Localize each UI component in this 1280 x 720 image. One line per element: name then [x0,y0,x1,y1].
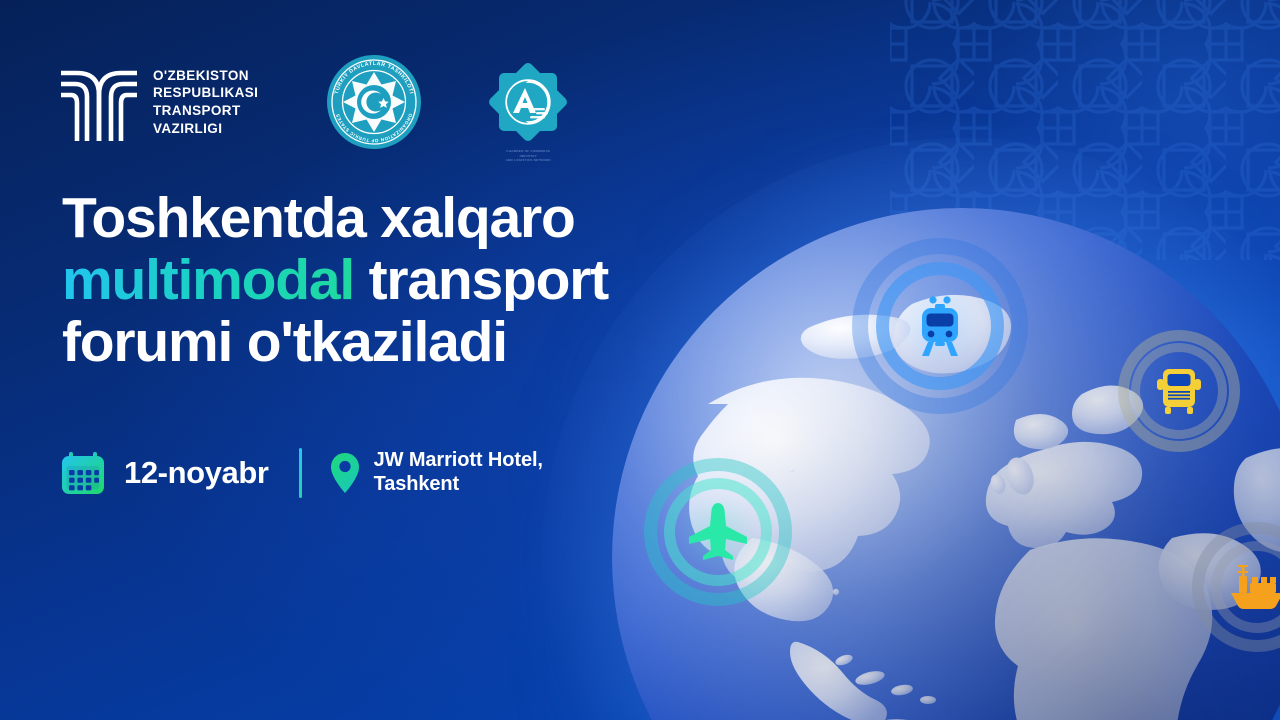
poster-canvas: O'ZBEKISTON RESPUBLIKASI TRANSPORT VAZIR… [0,0,1280,720]
event-date-label: 12-noyabr [124,455,269,491]
logo-ministry-of-transport: O'ZBEKISTON RESPUBLIKASI TRANSPORT VAZIR… [58,63,258,141]
airplane-icon [687,503,749,561]
headline-accent-word: multimodal [62,248,354,312]
headline-line-1: Toshkentda xalqaro [62,186,575,250]
train-icon [913,295,967,357]
eight-point-star-seal-icon: TURKIY DAVLATLAR TASHKILOTI ORGANIZATION… [326,54,422,150]
eight-point-star-ca-monogram-icon [478,52,578,152]
cargo-ship-icon [1228,565,1280,609]
logo-central-asia-emblem: CHAMBER OF COMMERCE INDUSTRY AND LOGISTI… [478,52,578,152]
event-location: JW Marriott Hotel, Tashkent [330,449,543,496]
headline-line-3: forumi o'tkaziladi [62,310,507,374]
headline-line-2-rest: transport [354,248,608,312]
logo-ministry-label: O'ZBEKISTON RESPUBLIKASI TRANSPORT VAZIR… [153,67,258,137]
map-pin-icon [330,452,360,494]
logo-central-asia-caption: CHAMBER OF COMMERCE INDUSTRY AND LOGISTI… [503,149,553,163]
event-location-label: JW Marriott Hotel, Tashkent [374,449,543,496]
page-title: Toshkentda xalqaro multimodal transport … [62,188,762,374]
logo-bar: O'ZBEKISTON RESPUBLIKASI TRANSPORT VAZIR… [58,52,578,152]
bus-icon [1153,365,1205,417]
event-date: 12-noyabr [60,450,269,496]
transport-node-plane [644,458,792,606]
transport-node-ship [1192,522,1280,652]
event-meta: 12-noyabr JW Marriott Hotel, Tashkent [60,448,543,498]
converging-roads-y-mark-icon [58,63,140,141]
calendar-icon [60,450,106,496]
logo-organization-of-turkic-states: TURKIY DAVLATLAR TASHKILOTI ORGANIZATION… [326,54,422,150]
transport-node-bus [1118,330,1240,452]
transport-node-train [852,238,1028,414]
meta-divider [299,448,302,498]
